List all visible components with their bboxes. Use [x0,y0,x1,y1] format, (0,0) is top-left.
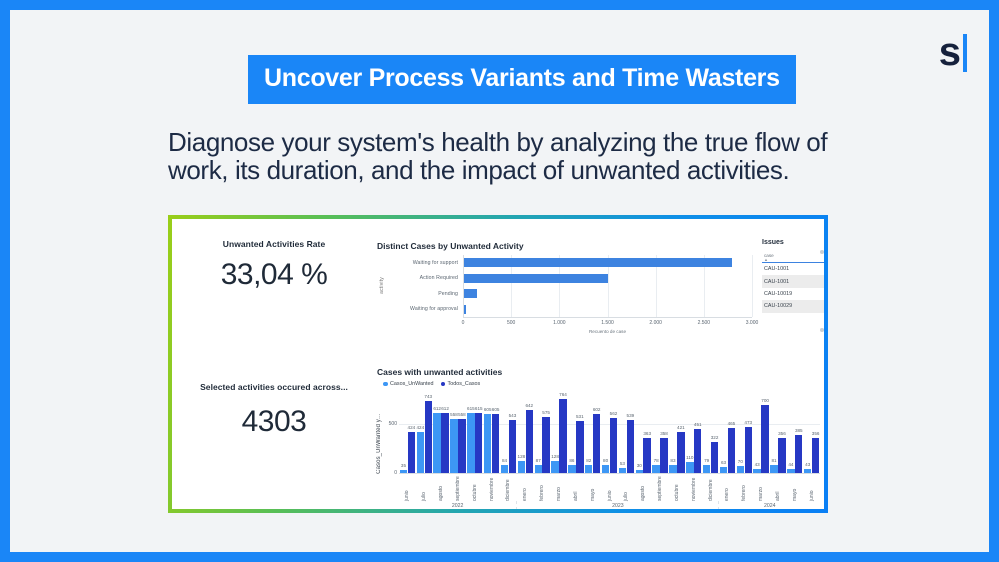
bar-todos-casos[interactable]: 421 [677,432,684,473]
bar-group[interactable]: 558558 [450,395,467,473]
bar-value-label: 764 [559,392,567,397]
month-label: agosto [640,474,646,501]
month-label: octubre [472,474,478,501]
bar-group[interactable]: 612612 [433,395,450,473]
bar-todos-casos[interactable]: 602 [593,414,600,473]
bar-casos-unwanted[interactable]: 110 [686,462,693,473]
bar-casos-unwanted[interactable]: 128 [518,461,525,473]
bar-todos-casos[interactable]: 562 [610,418,617,473]
hbar-fill [464,305,466,314]
slide-canvas: s Uncover Process Variants and Time Wast… [10,10,989,552]
page-title: Uncover Process Variants and Time Waster… [264,64,780,93]
month-tick: octubre [669,474,686,501]
bar-group[interactable]: 70473 [736,395,753,473]
hbar-x-tick: 0 [462,320,465,326]
bar-casos-unwanted[interactable]: 79 [703,465,710,473]
vbar-y-axis-ticks: 0500 [379,395,397,473]
hbar-category-label: Waiting for approval [389,306,463,312]
bar-group[interactable]: 81356 [770,395,787,473]
hbar-chart-title: Distinct Cases by Unwanted Activity [377,241,524,251]
bar-group[interactable]: 43700 [753,395,770,473]
bar-todos-casos[interactable]: 473 [745,427,752,473]
bar-group[interactable]: 84543 [500,395,517,473]
bar-casos-unwanted[interactable]: 82 [585,465,592,473]
bar-todos-casos[interactable]: 575 [542,417,549,473]
vbar-legend: Casos_UnWantedTodos_Casos [383,381,820,387]
legend-color-dot [441,382,446,387]
bar-casos-unwanted[interactable]: 424 [417,432,424,473]
vbar-y-tick: 500 [389,421,397,427]
vbar-y-tick: 0 [394,470,397,476]
bar-group[interactable]: 87575 [534,395,551,473]
hbar-row[interactable]: Waiting for approval [389,302,752,318]
year-label: 2022 [399,501,516,509]
bar-todos-casos[interactable]: 363 [643,438,650,473]
bar-group[interactable]: 35424 [399,395,416,473]
bar-group[interactable]: 53539 [618,395,635,473]
bar-group[interactable]: 424743 [416,395,433,473]
bar-value-label: 642 [525,403,533,408]
month-tick: junio [399,474,416,501]
bar-value-label: 84 [502,458,507,463]
bar-value-label: 43 [805,462,810,467]
bar-group[interactable]: 80562 [601,395,618,473]
bar-value-label: 80 [603,458,608,463]
hbar-fill [464,289,477,298]
bar-casos-unwanted[interactable]: 86 [568,465,575,473]
bar-todos-casos[interactable]: 465 [728,428,735,473]
bar-todos-casos[interactable]: 424 [408,432,415,473]
bar-todos-casos[interactable]: 539 [627,420,634,473]
month-tick: abril [770,474,787,501]
bar-value-label: 363 [643,431,651,436]
bar-value-label: 424 [416,425,424,430]
month-label: septiembre [657,474,663,501]
hbar-fill [464,274,608,283]
bar-value-label: 451 [694,422,702,427]
logo-letter: s [939,32,960,72]
bar-value-label: 612 [433,406,441,411]
bar-value-label: 358 [660,431,668,436]
bar-todos-casos[interactable]: 642 [526,410,533,473]
hbar-x-tick: 2.500 [698,320,711,326]
month-label: octubre [674,474,680,501]
month-label: noviembre [691,474,697,501]
bar-group[interactable]: 605605 [483,395,500,473]
month-label: abril [775,474,781,501]
issue-row[interactable]: CAU-1001 [762,263,824,275]
month-tick: febrero [534,474,551,501]
bar-group[interactable]: 615615 [466,395,483,473]
month-tick: julio [416,474,433,501]
legend-item[interactable]: Todos_Casos [441,381,481,387]
bar-casos-unwanted[interactable]: 558 [450,419,457,473]
bar-group[interactable]: 128764 [551,395,568,473]
month-tick: julio [618,474,635,501]
scroll-down-dot-icon[interactable] [820,328,824,332]
bar-casos-unwanted[interactable]: 70 [737,466,744,473]
month-label: septiembre [455,474,461,501]
bar-value-label: 605 [484,407,492,412]
kpi-unwanted-activities-rate: Unwanted Activities Rate 33,04 % [184,239,364,292]
hbar-x-tick: 2.000 [649,320,662,326]
bar-todos-casos[interactable]: 764 [559,399,566,473]
bar-todos-casos[interactable]: 543 [509,420,516,473]
month-label: mayo [792,474,798,501]
kpi-label: Unwanted Activities Rate [184,239,364,249]
subtitle-text: Diagnose your system's health by analyzi… [168,128,848,184]
issues-panel[interactable]: Issues case ▲ CAU-1001CAU-1001CAU-10019C… [762,239,824,339]
dashboard-frame: Unwanted Activities Rate 33,04 % Selecte… [168,215,828,513]
hbar-row[interactable]: Pending [389,286,752,302]
bar-todos-casos[interactable]: 356 [778,438,785,473]
month-tick: agosto [433,474,450,501]
kpi-value: 33,04 % [184,258,364,292]
bar-value-label: 128 [551,454,559,459]
hbar-x-tick: 1.500 [601,320,614,326]
bar-value-label: 743 [424,394,432,399]
bar-value-label: 424 [408,425,416,430]
bar-group[interactable]: 44385 [786,395,803,473]
hbar-row[interactable]: Action Required [389,271,752,287]
hbar-track [463,286,752,302]
month-label: febrero [741,474,747,501]
bar-todos-casos[interactable]: 558 [458,419,465,473]
vbar-bar-groups: 3542442474361261255855861561560560584543… [399,395,820,473]
bar-casos-unwanted[interactable]: 80 [602,465,609,473]
issue-row[interactable]: CAU-1001 [762,275,824,287]
month-tick: mayo [786,474,803,501]
bar-group[interactable]: 79322 [702,395,719,473]
month-tick: junio [601,474,618,501]
bar-value-label: 605 [492,407,500,412]
month-label: marzo [556,474,562,501]
kpi-selected-activities-occured: Selected activities occured across... 43… [184,382,364,439]
bar-value-label: 562 [610,411,618,416]
title-banner: Uncover Process Variants and Time Waster… [248,55,796,104]
bar-value-label: 473 [744,420,752,425]
bar-value-label: 615 [475,406,483,411]
month-tick: diciembre [702,474,719,501]
bar-value-label: 82 [586,458,591,463]
month-label: enero [724,474,730,501]
vbar-chart-title: Cases with unwanted activities [377,367,502,377]
bar-value-label: 543 [509,413,517,418]
bar-value-label: 612 [441,406,449,411]
month-label: junio [404,474,410,501]
bar-todos-casos[interactable]: 743 [425,401,432,473]
bar-todos-casos[interactable]: 385 [795,435,802,473]
bar-value-label: 128 [518,454,526,459]
month-tick: junio [803,474,820,501]
bar-group[interactable]: 83421 [669,395,686,473]
bar-value-label: 30 [637,463,642,468]
hbar-category-label: Action Required [389,275,463,281]
bar-value-label: 53 [620,461,625,466]
hbar-rows: Waiting for supportAction RequiredPendin… [389,255,752,317]
bar-todos-casos[interactable]: 322 [711,442,718,473]
month-tick: marzo [753,474,770,501]
month-tick: agosto [635,474,652,501]
year-label: 2023 [516,501,718,509]
bar-value-label: 558 [458,412,466,417]
bar-value-label: 35 [401,463,406,468]
hbar-x-tick: 500 [507,320,515,326]
month-tick: enero [517,474,534,501]
bar-value-label: 43 [755,462,760,467]
bar-casos-unwanted[interactable]: 83 [669,465,676,473]
bar-group[interactable]: 63465 [719,395,736,473]
bar-todos-casos[interactable]: 612 [441,413,448,473]
hbar-x-tick: 3.000 [746,320,759,326]
bar-casos-unwanted[interactable]: 128 [551,461,558,473]
bar-group[interactable]: 78358 [652,395,669,473]
bar-value-label: 615 [467,406,475,411]
month-label: abril [573,474,579,501]
bar-group[interactable]: 128642 [517,395,534,473]
month-tick: febrero [736,474,753,501]
month-label: diciembre [708,474,714,501]
bar-value-label: 356 [812,431,820,436]
bar-group[interactable]: 86531 [567,395,584,473]
bar-value-label: 558 [450,412,458,417]
bar-todos-casos[interactable]: 615 [475,413,482,473]
legend-item[interactable]: Casos_UnWanted [383,381,434,387]
month-tick: marzo [551,474,568,501]
vbar-month-labels: juniojulioagostoseptiembreoctubrenoviemb… [399,474,820,501]
month-label: agosto [438,474,444,501]
bar-value-label: 356 [778,431,786,436]
month-tick: abril [567,474,584,501]
bar-value-label: 385 [795,428,803,433]
bar-value-label: 421 [677,425,685,430]
hbar-x-tick: 1.000 [553,320,566,326]
legend-label: Casos_UnWanted [390,381,434,387]
month-label: mayo [590,474,596,501]
bar-value-label: 78 [654,458,659,463]
bar-value-label: 79 [704,458,709,463]
bar-value-label: 87 [536,458,541,463]
issue-row[interactable]: CAU-10029 [762,300,824,312]
bar-value-label: 465 [728,421,736,426]
brand-logo: s [939,32,967,76]
month-label: diciembre [505,474,511,501]
month-label: junio [809,474,815,501]
legend-label: Todos_Casos [448,381,481,387]
bar-casos-unwanted[interactable]: 605 [484,414,491,473]
bar-casos-unwanted[interactable]: 615 [467,413,474,473]
bar-group[interactable]: 82602 [584,395,601,473]
month-tick: noviembre [685,474,702,501]
month-label: marzo [758,474,764,501]
bar-casos-unwanted[interactable]: 84 [501,465,508,473]
bar-value-label: 539 [627,413,635,418]
month-label: julio [421,474,427,501]
month-tick: mayo [584,474,601,501]
hbar-category-label: Waiting for support [389,260,463,266]
bar-value-label: 81 [771,458,776,463]
bar-value-label: 86 [569,458,574,463]
bar-casos-unwanted[interactable]: 81 [770,465,777,473]
hbar-y-axis-label: activity [379,277,385,294]
bar-value-label: 83 [670,458,675,463]
hbar-category-label: Pending [389,291,463,297]
hbar-x-axis-label: Recuento de case [463,329,752,334]
bar-value-label: 44 [788,462,793,467]
bar-todos-casos[interactable]: 605 [492,414,499,473]
hbar-track [463,302,752,318]
bar-value-label: 63 [721,460,726,465]
hbar-row[interactable]: Waiting for support [389,255,752,271]
month-tick: septiembre [450,474,467,501]
bar-value-label: 700 [761,398,769,403]
slide-root: s Uncover Process Variants and Time Wast… [0,0,999,562]
month-label: febrero [539,474,545,501]
bar-casos-unwanted[interactable]: 612 [433,413,440,473]
month-label: enero [522,474,528,501]
bar-value-label: 322 [711,435,719,440]
bar-todos-casos[interactable]: 358 [660,438,667,473]
scroll-up-dot-icon[interactable] [820,250,824,254]
month-tick: diciembre [500,474,517,501]
month-label: junio [607,474,613,501]
legend-color-dot [383,382,388,387]
issue-row[interactable]: CAU-10019 [762,288,824,300]
hbar-x-axis: 05001.0001.5002.0002.5003.000 [463,317,752,329]
hbar-track [463,255,752,271]
bar-todos-casos[interactable]: 451 [694,429,701,473]
hbar-chart[interactable]: activity Waiting for supportAction Requi… [377,255,752,335]
bar-value-label: 110 [686,455,693,460]
sort-ascending-icon[interactable]: ▲ [762,258,824,261]
kpi-label: Selected activities occured across... [184,382,364,392]
bar-todos-casos[interactable]: 356 [812,438,819,473]
issues-row-list: CAU-1001CAU-1001CAU-10019CAU-10029 [762,263,824,313]
bar-todos-casos[interactable]: 700 [761,405,768,473]
bar-value-label: 602 [593,407,601,412]
month-tick: septiembre [652,474,669,501]
month-tick: enero [719,474,736,501]
gridline [752,255,753,317]
bar-value-label: 531 [576,414,584,419]
hbar-track [463,271,752,287]
bar-casos-unwanted[interactable]: 87 [535,465,542,473]
vbar-plot-area: 0500 35424424743612612558558615615605605… [399,395,820,473]
bar-value-label: 575 [542,410,550,415]
logo-bar-icon [963,34,967,72]
vbar-chart[interactable]: Casos_UnWantedTodos_Casos Casos_UnWanted… [377,381,820,509]
month-label: noviembre [489,474,495,501]
month-tick: noviembre [483,474,500,501]
month-label: julio [623,474,629,501]
bar-todos-casos[interactable]: 531 [576,421,583,473]
month-tick: octubre [466,474,483,501]
bar-value-label: 70 [738,459,743,464]
bar-casos-unwanted[interactable]: 78 [652,465,659,473]
issues-title: Issues [762,239,824,246]
bar-group[interactable]: 43356 [803,395,820,473]
vbar-year-labels: 202220232024 [399,501,820,509]
bar-group[interactable]: 110451 [685,395,702,473]
dashboard-panel: Unwanted Activities Rate 33,04 % Selecte… [172,219,824,509]
year-label: 2024 [718,501,820,509]
hbar-fill [464,258,732,267]
kpi-value: 4303 [184,405,364,439]
bar-group[interactable]: 30363 [635,395,652,473]
